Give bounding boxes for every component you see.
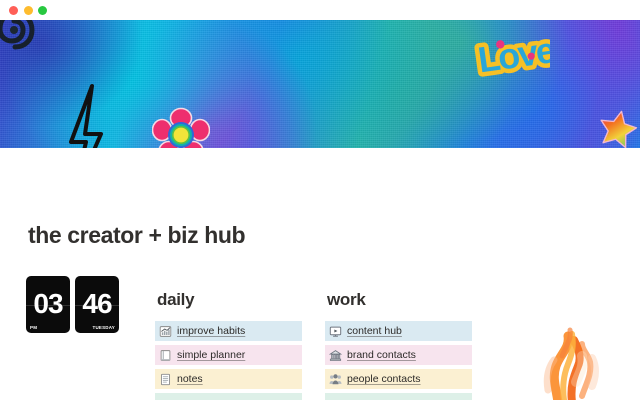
- list-item-label: content hub: [347, 325, 402, 337]
- window-titlebar: [0, 0, 640, 20]
- column-work: work content hub: [325, 290, 472, 400]
- app-window: Love Love: [0, 0, 640, 400]
- classical-building-icon: [329, 349, 342, 362]
- closed-book-icon: [159, 349, 172, 362]
- list-item[interactable]: notes: [155, 369, 302, 389]
- list-item-label: notes: [177, 373, 203, 385]
- page-document-icon: [159, 373, 172, 386]
- love-sticker: Love Love: [472, 26, 550, 86]
- star-sticker: [598, 108, 638, 148]
- svg-text:Love: Love: [475, 29, 550, 80]
- flip-clock-widget[interactable]: 03 PM 46 TUESDAY: [26, 276, 119, 333]
- chart-increasing-icon: [159, 325, 172, 338]
- list-item-label: simple planner: [177, 349, 245, 361]
- list-item[interactable]: content hub: [325, 321, 472, 341]
- flip-clock-weekday: TUESDAY: [93, 326, 116, 331]
- column-title-daily: daily: [155, 290, 302, 310]
- flip-clock-minute-panel: 46 TUESDAY: [75, 276, 119, 333]
- list-item[interactable]: improve habits: [155, 321, 302, 341]
- orange-flame-art: [512, 326, 632, 400]
- list-item-label: improve habits: [177, 325, 245, 337]
- list-item[interactable]: people contacts: [325, 369, 472, 389]
- close-window-button[interactable]: [9, 6, 18, 15]
- list-item[interactable]: [325, 393, 472, 400]
- flip-clock-seam: [75, 305, 119, 306]
- column-title-work: work: [325, 290, 472, 310]
- column-daily: daily improve habits: [155, 290, 302, 400]
- list-item[interactable]: [155, 393, 302, 400]
- list-item-label: people contacts: [347, 373, 421, 385]
- flip-clock-meridiem: PM: [30, 326, 37, 331]
- monitor-play-icon: [329, 325, 342, 338]
- flip-clock-seam: [26, 305, 70, 306]
- minimize-window-button[interactable]: [24, 6, 33, 15]
- people-group-icon: [329, 373, 342, 386]
- list-item[interactable]: brand contacts: [325, 345, 472, 365]
- page-cover-banner[interactable]: Love Love: [0, 20, 640, 148]
- flip-clock-hour-panel: 03 PM: [26, 276, 70, 333]
- list-item-label: brand contacts: [347, 349, 416, 361]
- maximize-window-button[interactable]: [38, 6, 47, 15]
- list-item[interactable]: simple planner: [155, 345, 302, 365]
